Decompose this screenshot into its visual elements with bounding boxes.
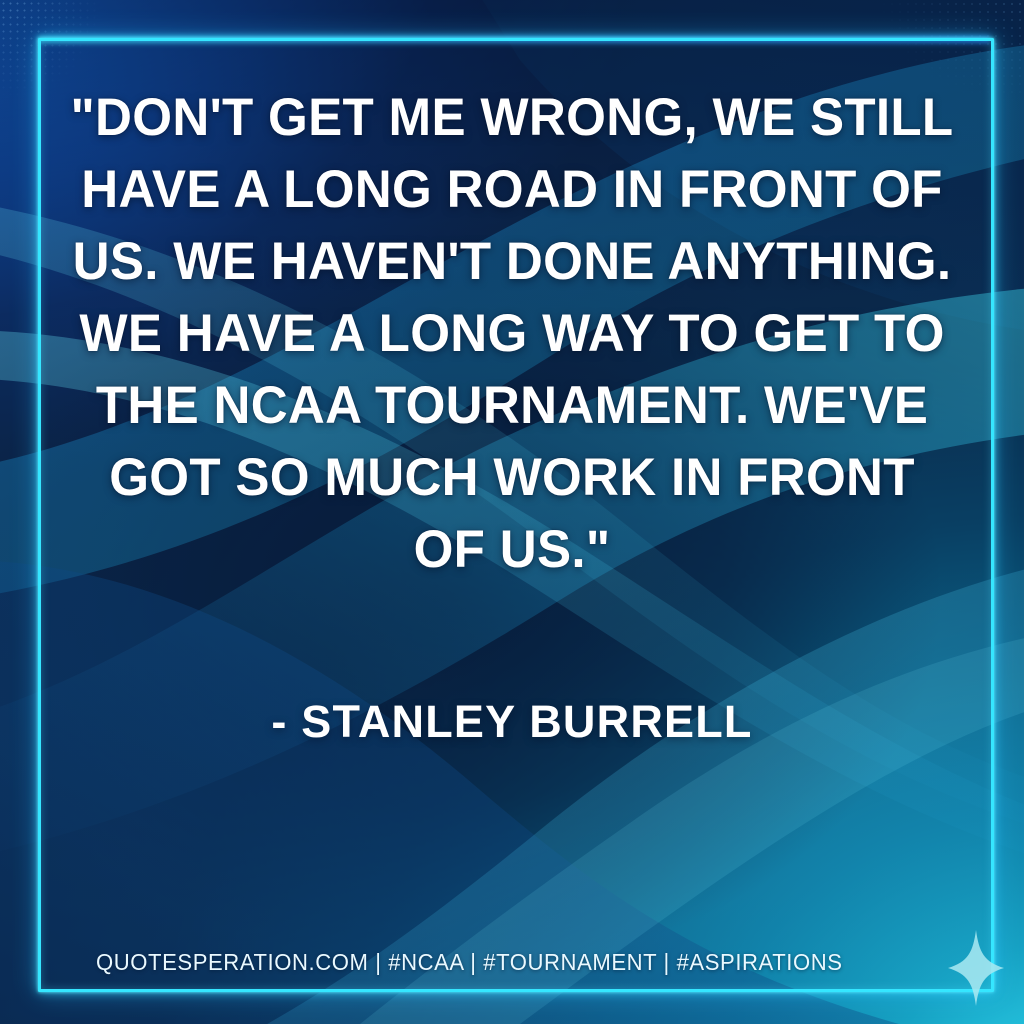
quote-card: "DON'T GET ME WRONG, WE STILL HAVE A LON… <box>0 0 1024 1024</box>
four-point-star-icon <box>948 930 1004 1006</box>
footer-attribution: QUOTESPERATION.COM | #NCAA | #TOURNAMENT… <box>96 949 843 976</box>
quote-text: "DON'T GET ME WRONG, WE STILL HAVE A LON… <box>68 82 956 586</box>
quote-author: - STANLEY BURRELL <box>52 694 972 750</box>
